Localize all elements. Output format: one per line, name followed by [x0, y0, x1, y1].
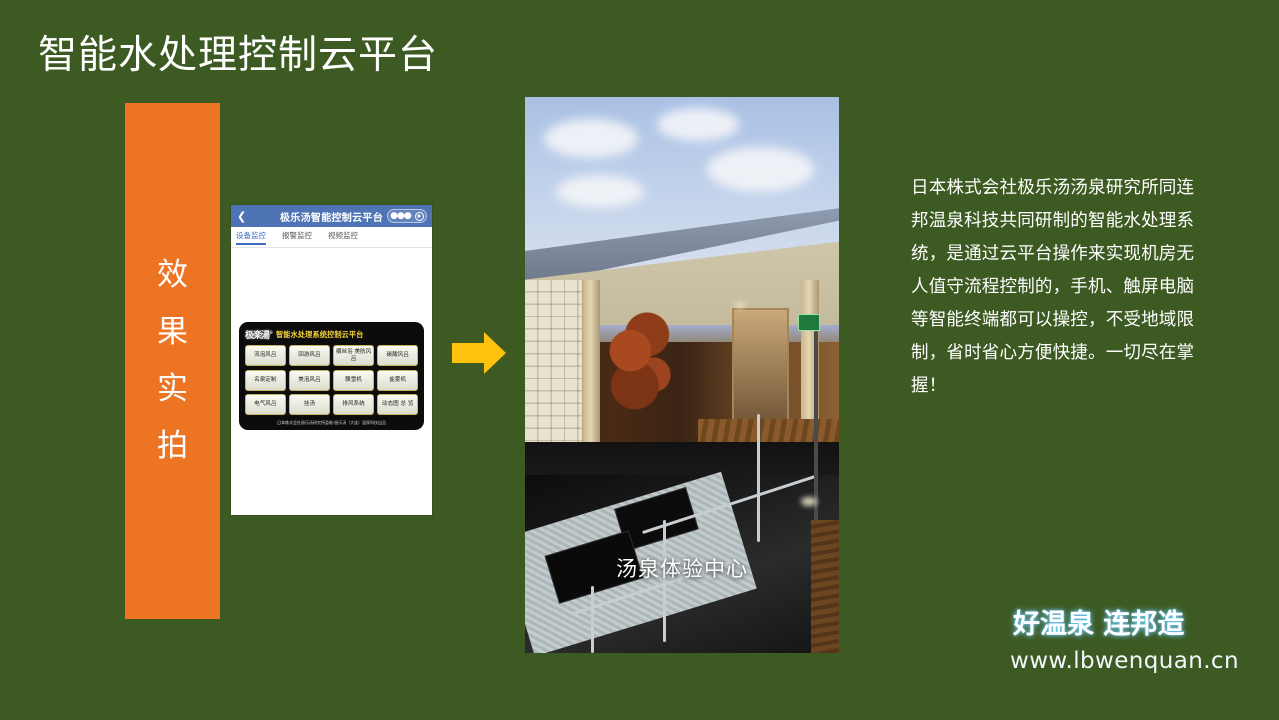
control-button[interactable]: 挂汤 [289, 394, 330, 415]
page-title: 智能水处理控制云平台 [38, 24, 438, 80]
back-chevron-icon[interactable]: ❮ [237, 211, 246, 222]
onsen-photo: 汤泉体验中心 [525, 97, 839, 653]
more-dots-icon[interactable]: ●●● [390, 212, 411, 221]
control-button[interactable]: 碳酸风吕 [377, 345, 418, 366]
description-paragraph: 日本株式会社极乐汤汤泉研究所同连邦温泉科技共同研制的智能水处理系统，是通过云平台… [911, 172, 1211, 403]
control-button[interactable]: 动态图 总 览 [377, 394, 418, 415]
control-panel: 极楽湯® 智能水处理系统控制云平台 流泡风吕 回游风吕 横丝浴 美航风吕 碳酸风… [239, 322, 424, 430]
phone-mockup: ❮ 极乐汤智能控制云平台 ●●● 设备监控 报警监控 视频监控 极楽湯® 智能水… [231, 205, 432, 515]
tab-alarm-monitor[interactable]: 报警监控 [282, 230, 312, 244]
control-button[interactable]: 横丝浴 美航风吕 [333, 345, 374, 366]
target-circle-icon[interactable] [415, 212, 424, 221]
control-panel-header: 极楽湯® 智能水处理系统控制云平台 [245, 328, 418, 341]
cloud-shape [657, 108, 739, 141]
control-button[interactable]: 名泉定制 [245, 370, 286, 391]
brand-website-url[interactable]: www.lbwenquan.cn [1010, 648, 1239, 674]
wood-deck-right [811, 520, 839, 653]
control-button[interactable]: 流泡风吕 [245, 345, 286, 366]
phone-content: 极楽湯® 智能水处理系统控制云平台 流泡风吕 回游风吕 横丝浴 美航风吕 碳酸风… [231, 248, 432, 515]
side-banner: 效 果 实 拍 [125, 103, 220, 619]
tab-device-monitor[interactable]: 设备监控 [236, 230, 266, 244]
control-button[interactable]: 排风系统 [333, 394, 374, 415]
control-button-grid: 流泡风吕 回游风吕 横丝浴 美航风吕 碳酸风吕 名泉定制 美泡风吕 飘雪机 盐雾… [245, 345, 418, 415]
control-panel-footer: 日本株式会社极乐汤研究所监制·极乐汤（大连）温泉科技出品 [245, 420, 418, 426]
cloud-shape [556, 175, 644, 208]
doorway [732, 308, 789, 430]
logo-text: 极楽湯 [245, 331, 269, 341]
side-banner-char-2: 果 [157, 317, 188, 348]
phone-header: ❮ 极乐汤智能控制云平台 ●●● [231, 205, 432, 227]
side-banner-char-1: 效 [157, 260, 188, 291]
brand-slogan: 好温泉 连邦造 [1013, 602, 1184, 641]
control-button[interactable]: 美泡风吕 [289, 370, 330, 391]
control-button[interactable]: 回游风吕 [289, 345, 330, 366]
control-button[interactable]: 电气风吕 [245, 394, 286, 415]
gokurakuyu-logo: 极楽湯® [245, 328, 272, 341]
control-button[interactable]: 盐雾机 [377, 370, 418, 391]
handrail-post [591, 586, 594, 653]
phone-tab-bar: 设备监控 报警监控 视频监控 [231, 227, 432, 248]
shoji-window [525, 280, 585, 447]
cloud-shape [707, 147, 814, 191]
arrow-right-icon [450, 329, 508, 381]
cloud-shape [544, 119, 638, 158]
side-banner-char-3: 实 [157, 374, 188, 405]
autumn-tree-decor [600, 297, 675, 430]
control-panel-title: 智能水处理系统控制云平台 [276, 330, 363, 340]
control-button[interactable]: 飘雪机 [333, 370, 374, 391]
miniprogram-capsule[interactable]: ●●● [387, 209, 427, 223]
side-banner-char-4: 拍 [157, 431, 188, 462]
tab-video-monitor[interactable]: 视频监控 [328, 230, 358, 244]
ceiling-light [735, 303, 745, 308]
registered-mark-icon: ® [269, 330, 272, 335]
photo-caption: 汤泉体验中心 [525, 553, 839, 583]
handrail-post [757, 414, 760, 542]
exit-sign-icon [798, 314, 820, 331]
